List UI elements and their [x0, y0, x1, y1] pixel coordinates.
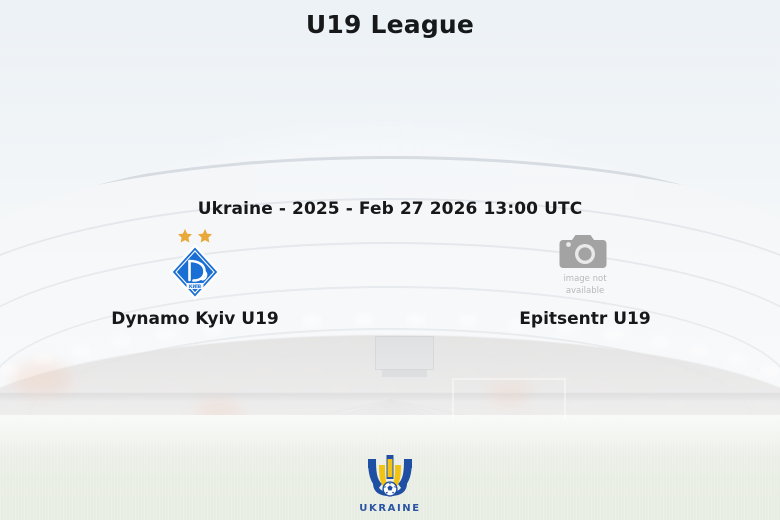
match-preview-card: U19 League Ukraine - 2025 - Feb 27 2026 …: [0, 0, 780, 520]
home-crest-slot: КИЇВ: [163, 228, 227, 300]
svg-text:КИЇВ: КИЇВ: [189, 283, 202, 290]
page-title: U19 League: [0, 10, 780, 39]
federation-badge: UKRAINE: [0, 453, 780, 514]
placeholder-caption-line2: available: [566, 286, 604, 296]
match-subtitle: Ukraine - 2025 - Feb 27 2026 13:00 UTC: [0, 199, 780, 219]
home-team-name: Dynamo Kyiv U19: [111, 309, 279, 329]
away-team-name: Epitsentr U19: [519, 309, 650, 329]
image-not-available-placeholder: image not available: [553, 230, 617, 300]
away-team[interactable]: image not available Epitsentr U19: [390, 228, 780, 329]
ukraine-federation-trident-icon: [355, 453, 425, 505]
card-content: U19 League Ukraine - 2025 - Feb 27 2026 …: [0, 0, 780, 520]
camera-icon: [557, 230, 613, 272]
home-team[interactable]: КИЇВ Dynamo Kyiv U19: [0, 228, 390, 329]
federation-label: UKRAINE: [359, 503, 420, 514]
away-crest-slot: image not available: [553, 228, 617, 300]
teams-row: КИЇВ Dynamo Kyiv U19 image not: [0, 228, 780, 329]
dynamo-kyiv-crest-icon: КИЇВ: [163, 228, 227, 300]
placeholder-caption-line1: image not: [563, 274, 606, 284]
